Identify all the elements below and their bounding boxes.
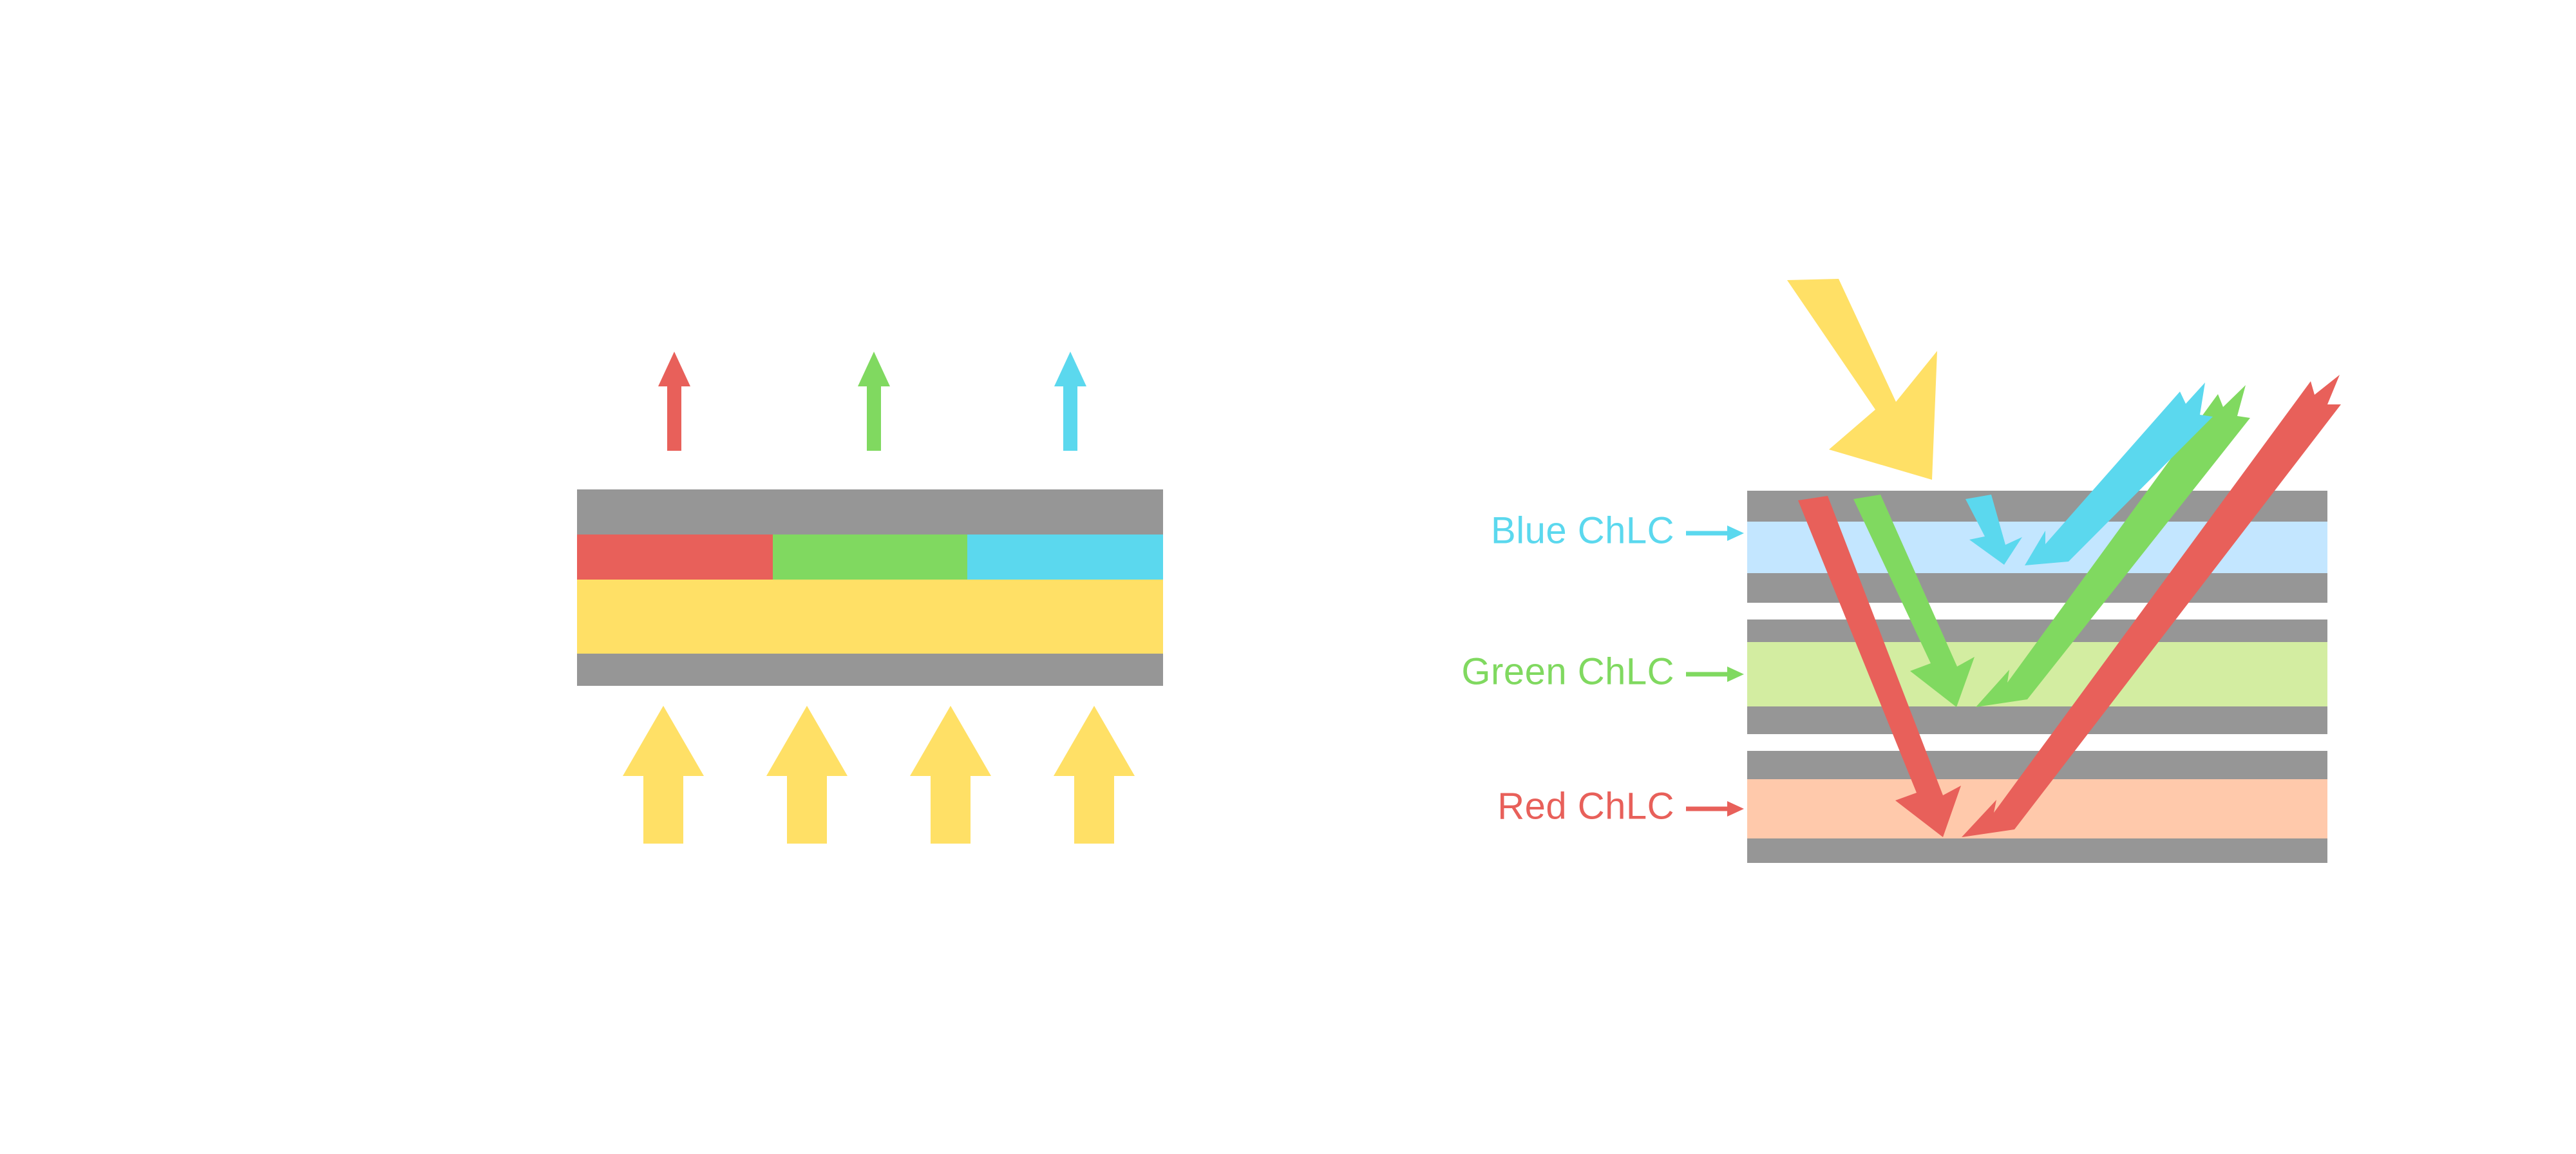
- backlight-arrow-2: [766, 706, 848, 844]
- green-filter-segment: [773, 534, 967, 580]
- blue-emitted-arrow: [1054, 352, 1086, 451]
- gap-1: [1747, 603, 2327, 620]
- backlight-arrow-1: [623, 706, 704, 844]
- right-panel-labels: Blue ChLC Green ChLC Red ChL: [1461, 509, 1744, 827]
- left-color-filter-layer: [577, 534, 1163, 580]
- emitted-arrows-group: [658, 352, 1086, 451]
- red-chlc-label-arrow-icon: [1686, 801, 1744, 817]
- gap-2: [1747, 734, 2327, 751]
- left-panel: [577, 352, 1163, 844]
- red-chlc-label-text: Red ChLC: [1497, 785, 1674, 827]
- left-top-electrode-layer: [577, 489, 1163, 534]
- blue-filter-segment: [967, 534, 1163, 580]
- left-bottom-electrode-layer: [577, 654, 1163, 686]
- diagram-canvas: Blue ChLC Green ChLC Red ChL: [0, 0, 2576, 1154]
- backlight-arrow-3: [910, 706, 991, 844]
- red-emitted-arrow: [658, 352, 690, 451]
- green-emitted-arrow: [858, 352, 890, 451]
- green-chlc-label-text: Green ChLC: [1461, 650, 1674, 692]
- backlight-arrow-4: [1054, 706, 1135, 844]
- backlight-source-arrows: [623, 706, 1135, 844]
- red-filter-segment: [577, 534, 773, 580]
- green-top-electrode: [1747, 620, 2327, 642]
- figure-root: Blue ChLC Green ChLC Red ChL: [0, 0, 2576, 1154]
- left-backlight-layer: [577, 580, 1163, 654]
- blue-chlc-label: Blue ChLC: [1491, 509, 1744, 551]
- ambient-light-arrow: [1787, 279, 1937, 480]
- right-panel: Blue ChLC Green ChLC Red ChL: [1461, 279, 2341, 863]
- green-chlc-label-arrow-icon: [1686, 667, 1744, 682]
- green-chlc-label: Green ChLC: [1461, 650, 1744, 692]
- green-bottom-electrode: [1747, 706, 2327, 734]
- blue-chlc-label-arrow-icon: [1686, 525, 1744, 541]
- blue-chlc-label-text: Blue ChLC: [1491, 509, 1674, 551]
- red-chlc-label: Red ChLC: [1497, 785, 1744, 827]
- red-bottom-electrode: [1747, 838, 2327, 863]
